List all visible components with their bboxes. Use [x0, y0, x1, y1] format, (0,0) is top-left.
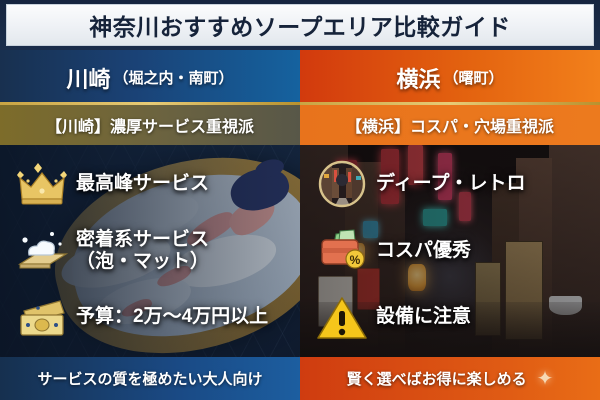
column-header-yokohama: 横浜 （曙町）	[300, 50, 600, 105]
subtitle-kawasaki-label: 【川崎】濃厚サービス重視派	[46, 113, 254, 137]
column-header-yokohama-sub: （曙町）	[444, 67, 504, 88]
wallet-percent-icon: %	[314, 225, 370, 277]
panel-row: 最高峰サービス 密	[0, 145, 600, 357]
feature-item: ディープ・レトロ	[300, 152, 600, 216]
panel-yokohama: ディープ・レトロ %	[300, 145, 600, 357]
money-icon	[14, 292, 70, 344]
feature-item: 最高峰サービス	[0, 152, 300, 216]
comparison-poster: 神奈川おすすめソープエリア比較ガイド 川崎 （堀之内・南町） 横浜 （曙町） 【…	[0, 0, 600, 400]
footer-yokohama-label: 賢く選べばお得に楽しめる	[347, 368, 527, 389]
feature-label: 密着系サービス （泡・マット）	[76, 229, 209, 274]
title-panel: 神奈川おすすめソープエリア比較ガイド	[6, 4, 594, 46]
panel-kawasaki: 最高峰サービス 密	[0, 145, 300, 357]
footer-kawasaki-label: サービスの質を極めたい大人向け	[37, 368, 262, 389]
feature-item: 密着系サービス （泡・マット）	[0, 219, 300, 283]
subtitle-row: 【川崎】濃厚サービス重視派 【横浜】コスパ・穴場重視派	[0, 105, 600, 145]
crown-icon	[14, 158, 70, 210]
feature-item: 予算：2万〜4万円以上	[0, 286, 300, 350]
subtitle-kawasaki: 【川崎】濃厚サービス重視派	[0, 105, 300, 145]
footer-row: サービスの質を極めたい大人向け 賢く選べばお得に楽しめる ✦	[0, 357, 600, 400]
feature-label: 予算：2万〜4万円以上	[76, 306, 268, 328]
feature-item: 設備に注意	[300, 286, 600, 350]
feature-list-kawasaki: 最高峰サービス 密	[0, 145, 300, 357]
footer-kawasaki: サービスの質を極めたい大人向け	[0, 357, 300, 400]
footer-yokohama: 賢く選べばお得に楽しめる ✦	[300, 357, 600, 400]
svg-text:%: %	[350, 253, 361, 267]
column-header-kawasaki-sub: （堀之内・南町）	[114, 67, 234, 88]
feature-label: コスパ優秀	[376, 240, 471, 262]
page-title: 神奈川おすすめソープエリア比較ガイド	[89, 8, 511, 42]
column-header-row: 川崎 （堀之内・南町） 横浜 （曙町）	[0, 50, 600, 105]
feature-label: ディープ・レトロ	[376, 173, 526, 195]
column-header-kawasaki: 川崎 （堀之内・南町）	[0, 50, 300, 105]
alley-photo-icon	[314, 158, 370, 210]
warning-triangle-icon	[314, 292, 370, 344]
subtitle-yokohama: 【横浜】コスパ・穴場重視派	[300, 105, 600, 145]
feature-list-yokohama: ディープ・レトロ %	[300, 145, 600, 357]
column-header-kawasaki-main: 川崎	[66, 62, 110, 94]
title-bar: 神奈川おすすめソープエリア比較ガイド	[0, 0, 600, 50]
subtitle-yokohama-label: 【横浜】コスパ・穴場重視派	[346, 113, 554, 137]
feature-label: 最高峰サービス	[76, 173, 209, 195]
foam-mat-icon	[14, 225, 70, 277]
sparkle-icon: ✦	[537, 369, 554, 389]
column-header-yokohama-main: 横浜	[396, 62, 440, 94]
feature-label: 設備に注意	[376, 306, 471, 328]
feature-item: % コスパ優秀	[300, 219, 600, 283]
